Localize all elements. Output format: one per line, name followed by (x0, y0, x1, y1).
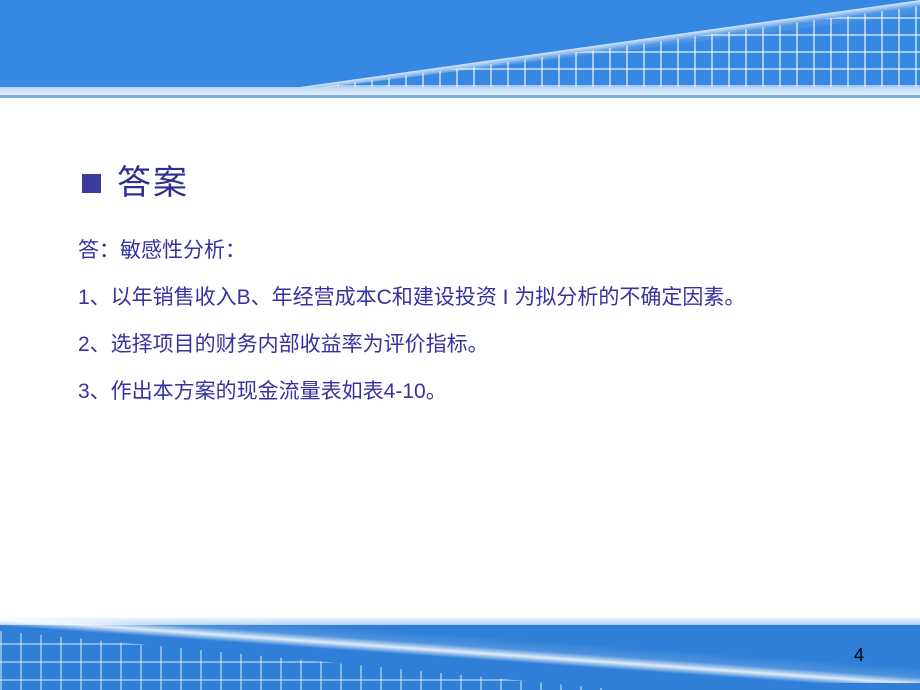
slide-body-text: 答：敏感性分析： 1、以年销售收入B、年经营成本C和建设投资 I 为拟分析的不确… (78, 240, 878, 402)
body-line-item-3: 3、作出本方案的现金流量表如表4-10。 (78, 381, 878, 402)
slide-title-text: 答案 (117, 166, 189, 200)
top-banner-decoration (0, 0, 920, 98)
square-bullet-icon (82, 174, 101, 193)
top-banner-light-stripe (0, 87, 920, 95)
body-line-intro: 答：敏感性分析： (78, 240, 878, 261)
slide-content-area: 答案 答：敏感性分析： 1、以年销售收入B、年经营成本C和建设投资 I 为拟分析… (0, 98, 920, 618)
body-line-item-2: 2、选择项目的财务内部收益率为评价指标。 (78, 334, 878, 355)
presentation-slide: 答案 答：敏感性分析： 1、以年销售收入B、年经营成本C和建设投资 I 为拟分析… (0, 0, 920, 690)
bottom-banner-decoration (0, 618, 920, 690)
bottom-banner-light-stripe (0, 618, 920, 625)
slide-title: 答案 (82, 166, 189, 200)
slide-page-number: 4 (854, 646, 864, 664)
body-line-item-1: 1、以年销售收入B、年经营成本C和建设投资 I 为拟分析的不确定因素。 (78, 287, 878, 308)
